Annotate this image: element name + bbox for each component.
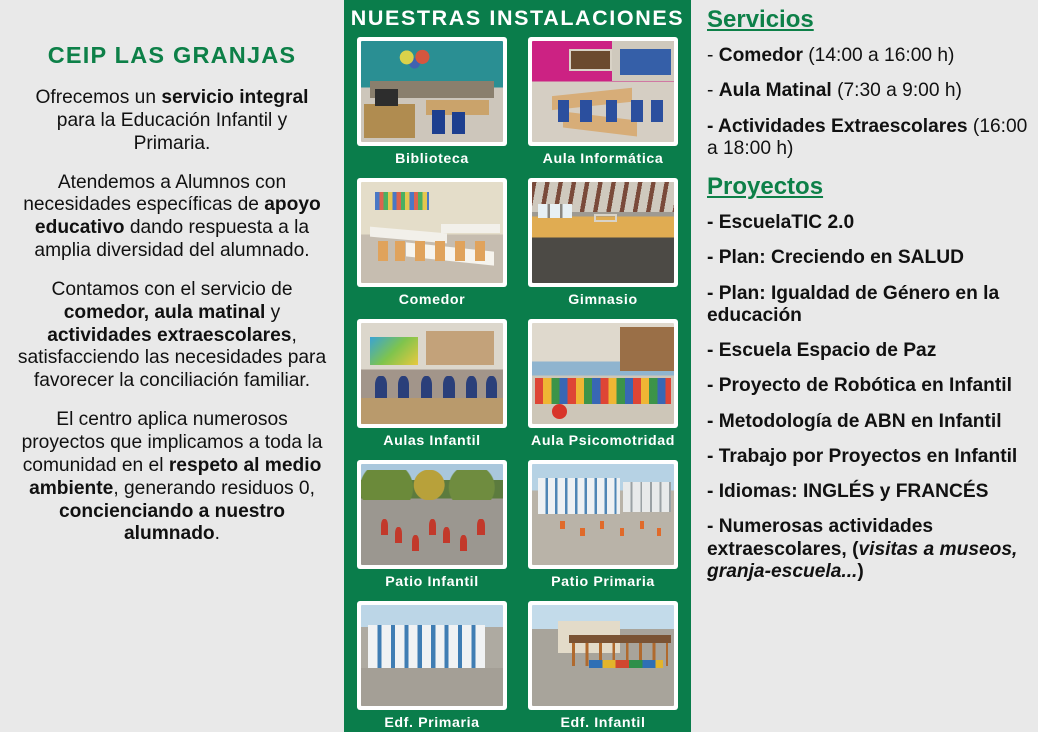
- photo-detail: [435, 241, 445, 261]
- facility-photo-cell: Patio Infantil: [353, 460, 511, 600]
- para-medio-ambiente: El centro aplica numerosos proyectos que…: [16, 409, 328, 546]
- facility-photo-caption: Aula Psicomotridad: [531, 433, 675, 449]
- servicio-item: - Comedor (14:00 a 16:00 h): [707, 45, 1030, 67]
- facility-photo-cell: Comedor: [353, 178, 511, 318]
- proyecto-item: - Trabajo por Proyectos en Infantil: [707, 446, 1030, 468]
- photo-detail: [640, 521, 644, 529]
- proyecto-item: - Proyecto de Robótica en Infantil: [707, 375, 1030, 397]
- photo-detail: [460, 535, 467, 551]
- photo-detail: [392, 47, 440, 73]
- proyecto-item: - Plan: Igualdad de Género en la educaci…: [707, 283, 1030, 328]
- facility-photo-comedor: [357, 178, 507, 287]
- photo-detail: [620, 49, 671, 75]
- facility-photo-cell: Aulas Infantil: [353, 319, 511, 459]
- school-description-list: Ofrecemos un servicio integral para la E…: [10, 87, 334, 546]
- photo-detail: [381, 519, 388, 535]
- photo-detail: [455, 241, 465, 261]
- facility-photo-caption: Edf. Primaria: [384, 715, 479, 731]
- facility-photo-caption: Patio Infantil: [385, 574, 479, 590]
- photo-detail: [429, 519, 436, 535]
- services-projects-column: Servicios - Comedor (14:00 a 16:00 h)- A…: [691, 0, 1038, 732]
- photo-detail: [361, 398, 503, 424]
- photo-detail: [475, 241, 485, 261]
- photo-detail: [623, 482, 671, 512]
- photo-detail: [631, 100, 642, 122]
- photo-image: [532, 605, 674, 706]
- photo-detail: [606, 100, 617, 122]
- facility-photo-gimnasio: [528, 178, 678, 287]
- photo-detail: [538, 478, 620, 514]
- photo-detail: [538, 204, 572, 218]
- photo-detail: [535, 378, 671, 404]
- photo-detail: [620, 327, 674, 371]
- proyectos-list: - EscuelaTIC 2.0- Plan: Creciendo en SAL…: [699, 212, 1030, 583]
- photo-detail: [657, 528, 661, 536]
- photo-detail: [580, 528, 584, 536]
- facilities-photo-grid: BibliotecaAula InformáticaComedorGimnasi…: [353, 37, 682, 732]
- photo-detail: [375, 89, 398, 105]
- facility-photo-aula-psicomotridad: [528, 319, 678, 428]
- photo-image: [361, 182, 503, 283]
- photo-detail: [432, 110, 445, 134]
- photo-image: [361, 41, 503, 142]
- photo-detail: [600, 521, 604, 529]
- facility-photo-caption: Patio Primaria: [551, 574, 655, 590]
- photo-detail: [415, 241, 425, 261]
- photo-image: [361, 605, 503, 706]
- facility-photo-biblioteca: [357, 37, 507, 146]
- facility-photo-patio-primaria: [528, 460, 678, 569]
- school-info-column: CEIP LAS GRANJAS Ofrecemos un servicio i…: [0, 0, 344, 732]
- photo-detail: [378, 241, 388, 261]
- facility-photo-caption: Aula Informática: [543, 151, 664, 167]
- photo-image: [532, 41, 674, 142]
- photo-image: [532, 323, 674, 424]
- photo-image: [532, 182, 674, 283]
- photo-detail: [552, 404, 568, 419]
- photo-detail: [364, 104, 415, 138]
- photo-detail: [563, 111, 637, 136]
- photo-detail: [375, 192, 429, 210]
- para-comedor: Contamos con el servicio de comedor, aul…: [16, 279, 328, 393]
- photo-detail: [580, 100, 591, 122]
- facility-photo-cell: Aula Psicomotridad: [524, 319, 682, 459]
- facility-photo-edf-infantil: [528, 601, 678, 710]
- photo-detail: [558, 100, 569, 122]
- photo-detail: [443, 376, 454, 398]
- servicios-list: - Comedor (14:00 a 16:00 h)- Aula Matina…: [699, 45, 1030, 160]
- photo-detail: [368, 625, 484, 667]
- servicio-item: - Actividades Extraescolares (16:00 a 18…: [707, 116, 1030, 161]
- facility-photo-cell: Aula Informática: [524, 37, 682, 177]
- proyecto-item: - Plan: Creciendo en SALUD: [707, 247, 1030, 269]
- facility-photo-caption: Edf. Infantil: [560, 715, 645, 731]
- facility-photo-cell: Patio Primaria: [524, 460, 682, 600]
- proyecto-item: - Escuela Espacio de Paz: [707, 340, 1030, 362]
- proyecto-item: - Metodología de ABN en Infantil: [707, 411, 1030, 433]
- photo-detail: [443, 527, 450, 543]
- facilities-heading: NUESTRAS INSTALACIONES: [351, 6, 684, 31]
- proyecto-item: - EscuelaTIC 2.0: [707, 212, 1030, 234]
- photo-detail: [466, 376, 477, 398]
- photo-detail: [560, 521, 564, 529]
- proyecto-item: - Numerosas actividades extraescolares, …: [707, 516, 1030, 583]
- photo-detail: [620, 528, 624, 536]
- photo-detail: [452, 112, 465, 134]
- photo-image: [361, 464, 503, 565]
- para-servicio-integral: Ofrecemos un servicio integral para la E…: [16, 87, 328, 156]
- facility-photo-caption: Gimnasio: [568, 292, 637, 308]
- page-title: CEIP LAS GRANJAS: [10, 42, 334, 69]
- proyectos-heading: Proyectos: [707, 173, 1030, 201]
- proyecto-item: - Idiomas: INGLÉS y FRANCÉS: [707, 481, 1030, 503]
- photo-detail: [395, 241, 405, 261]
- photo-detail: [412, 535, 419, 551]
- servicios-heading: Servicios: [707, 6, 1030, 34]
- photo-detail: [426, 331, 494, 365]
- facility-photo-cell: Edf. Primaria: [353, 601, 511, 732]
- para-apoyo-educativo: Atendemos a Alumnos con necesidades espe…: [16, 172, 328, 263]
- photo-detail: [375, 376, 386, 398]
- photo-detail: [370, 337, 418, 365]
- photo-detail: [569, 49, 612, 71]
- photo-image: [361, 323, 503, 424]
- photo-detail: [361, 668, 503, 706]
- photo-detail: [398, 376, 409, 398]
- facility-photo-caption: Aulas Infantil: [383, 433, 480, 449]
- poster-root: CEIP LAS GRANJAS Ofrecemos un servicio i…: [0, 0, 1038, 732]
- facility-photo-caption: Comedor: [399, 292, 465, 308]
- photo-detail: [421, 376, 432, 398]
- facility-photo-cell: Edf. Infantil: [524, 601, 682, 732]
- facility-photo-cell: Biblioteca: [353, 37, 511, 177]
- facilities-panel: NUESTRAS INSTALACIONES BibliotecaAula In…: [344, 0, 691, 732]
- photo-image: [532, 464, 674, 565]
- facility-photo-edf-primaria: [357, 601, 507, 710]
- photo-detail: [361, 470, 503, 500]
- photo-detail: [395, 527, 402, 543]
- photo-detail: [486, 376, 497, 398]
- photo-detail: [441, 224, 501, 233]
- photo-detail: [594, 214, 617, 222]
- photo-detail: [651, 100, 662, 122]
- facility-photo-aula-inform-tica: [528, 37, 678, 146]
- facility-photo-cell: Gimnasio: [524, 178, 682, 318]
- photo-detail: [589, 660, 663, 668]
- facility-photo-caption: Biblioteca: [395, 151, 469, 167]
- facility-photo-aulas-infantil: [357, 319, 507, 428]
- facility-photo-patio-infantil: [357, 460, 507, 569]
- photo-detail: [569, 635, 671, 643]
- photo-detail: [477, 519, 484, 535]
- servicio-item: - Aula Matinal (7:30 a 9:00 h): [707, 80, 1030, 102]
